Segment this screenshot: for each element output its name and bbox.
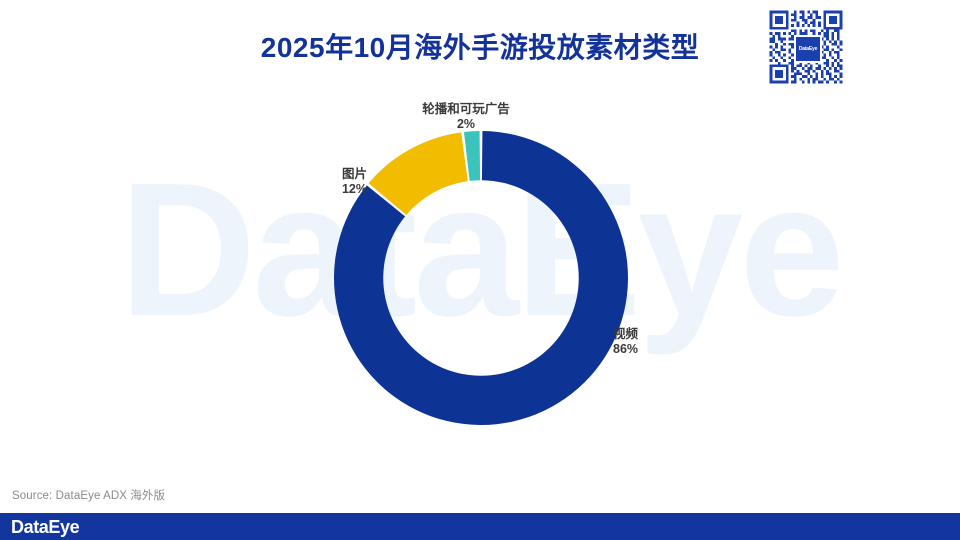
slice-label-image: 图片 12%	[325, 167, 367, 197]
donut-chart: 轮播和可玩广告 2% 图片 12% 视频 86%	[0, 95, 960, 470]
footer-bar: DataEye	[0, 513, 960, 540]
slice-label-video-value: 86%	[613, 342, 673, 357]
slice-label-image-name: 图片	[325, 167, 367, 182]
slice-label-video-name: 视频	[613, 327, 673, 342]
slice-label-carousel: 轮播和可玩广告 2%	[407, 102, 525, 132]
donut-slices	[334, 131, 628, 425]
qr-code[interactable]: DataEye	[767, 8, 845, 86]
donut-chart-svg	[334, 131, 628, 425]
qr-center-logo: DataEye	[794, 35, 822, 63]
slice-label-image-value: 12%	[325, 182, 367, 197]
slice-label-video: 视频 86%	[613, 327, 673, 357]
source-note: Source: DataEye ADX 海外版	[12, 487, 165, 503]
dataeye-logo: DataEye	[11, 517, 79, 538]
slice-label-carousel-name: 轮播和可玩广告	[407, 102, 525, 117]
slice-label-carousel-value: 2%	[407, 117, 525, 132]
